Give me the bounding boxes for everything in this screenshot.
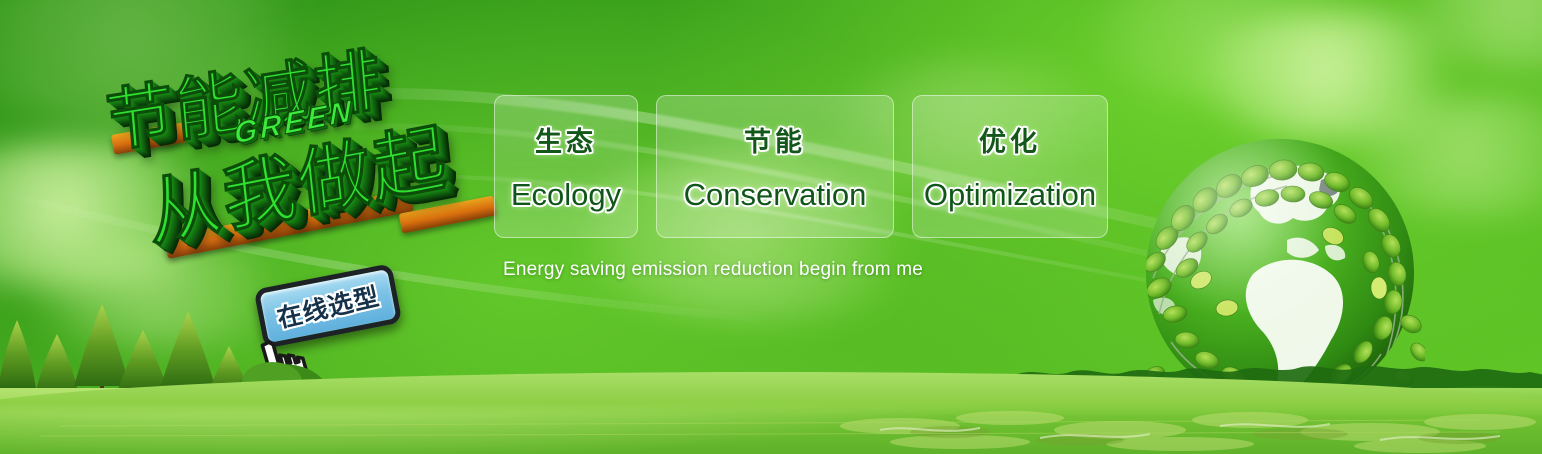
headline-3d-artwork: 节能减排 GREEN 从我做起 [85,14,507,285]
grass-field [0,388,1542,454]
card-optimization[interactable]: 优化 Optimization [912,95,1108,238]
card-conservation[interactable]: 节能 Conservation [656,95,894,238]
card-label-en: Ecology [511,177,621,213]
card-ecology[interactable]: 生态 Ecology [494,95,638,238]
leafy-earth-globe [1135,128,1425,418]
feature-card-list: 生态 Ecology 节能 Conservation 优化 Optimizati… [494,95,1108,238]
card-label-cn: 生态 [535,120,597,159]
card-label-cn: 优化 [979,120,1041,159]
grass-texture [0,396,1542,454]
card-label-en: Conservation [684,177,867,213]
tagline-text: Energy saving emission reduction begin f… [503,259,923,281]
eco-hero-banner: 节能减排 GREEN 从我做起 在线选型 生态 Ecology 节能 Conse… [0,0,1542,454]
card-label-cn: 节能 [744,120,806,159]
card-label-en: Optimization [924,177,1096,213]
globe-graphic [1135,128,1425,418]
